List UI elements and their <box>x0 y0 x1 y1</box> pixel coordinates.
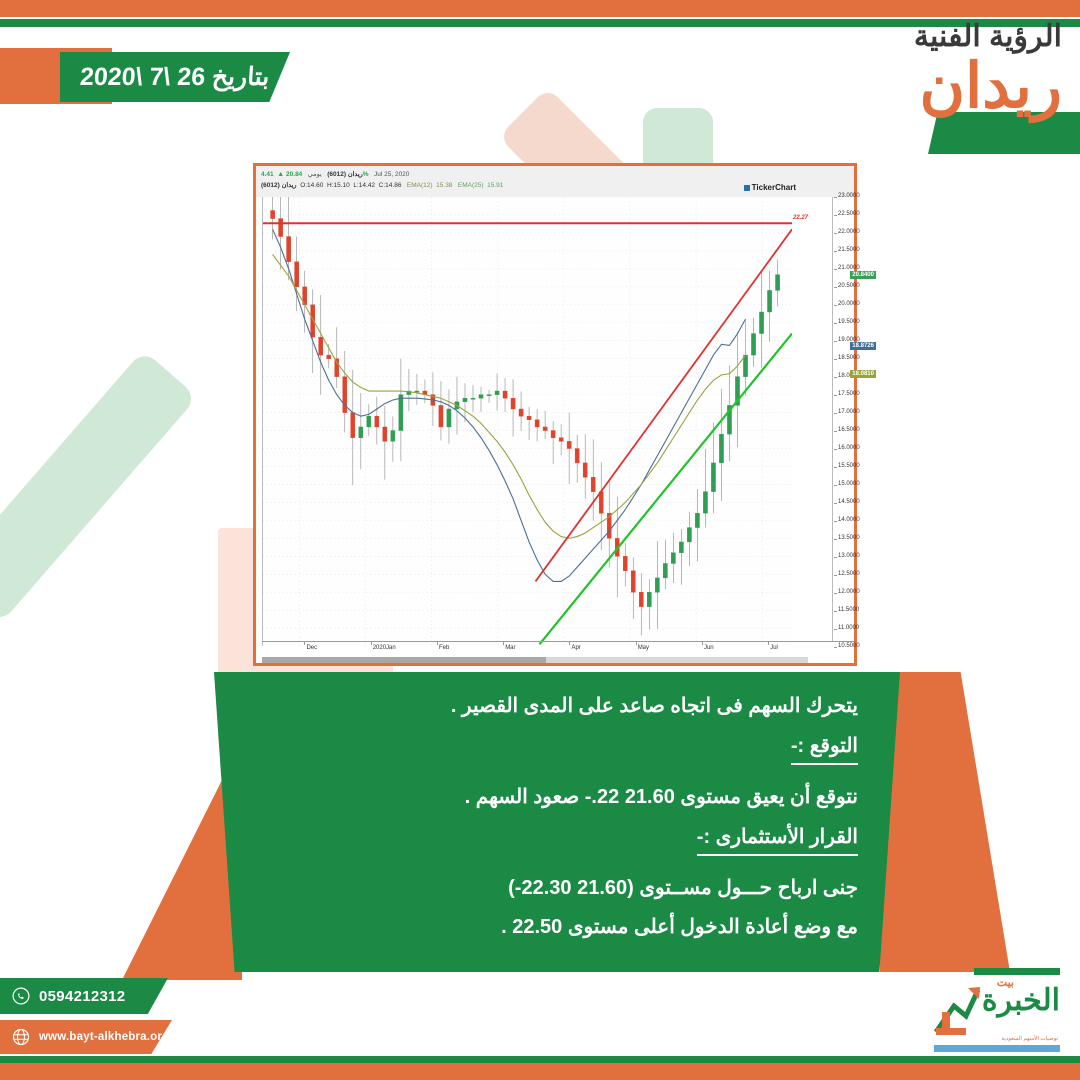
price-tag-ema-slow: 18.0810 <box>850 370 876 378</box>
chart-low: L:14.42 <box>353 182 375 189</box>
analysis-panel: يتحرك السهم فى اتجاه صاعد على المدى القص… <box>214 672 900 972</box>
x-tick-label: Dec <box>306 645 317 651</box>
candles <box>271 197 780 635</box>
price-tag-last: 20.8400 <box>850 271 876 279</box>
y-tick-label: 15.5000 <box>838 463 860 469</box>
y-tick-mark <box>834 503 837 504</box>
chart-header: ريدان (6012) يومي 20.84 ▲ 4.41% Jul 25, … <box>256 166 854 197</box>
chart-symbol: ريدان (6012) <box>327 171 363 178</box>
y-tick-mark <box>834 269 837 270</box>
y-tick-mark <box>834 305 837 306</box>
whatsapp-icon <box>12 987 30 1005</box>
analysis-line-2: نتوقع أن يعيق مستوى 21.60 22.- صعود السه… <box>256 785 858 810</box>
up-arrow-icon: ▲ <box>277 171 284 178</box>
website-url: www.bayt-alkhebra.org <box>39 1031 169 1043</box>
y-tick-label: 19.5000 <box>838 319 860 325</box>
x-tick-mark <box>636 642 637 645</box>
panel-accent-right <box>880 672 1010 972</box>
chart-date: Jul 25, 2020 <box>374 171 409 178</box>
y-tick-label: 13.0000 <box>838 553 860 559</box>
analysis-heading-2: القرار الأستثمارى :- <box>697 824 858 856</box>
date-badge: بتاريخ 26 \7 \2020 <box>60 52 290 102</box>
x-tick-label: Mar <box>505 645 515 651</box>
x-tick-mark <box>503 642 504 645</box>
tickerchart-label: TickerChart <box>752 183 796 192</box>
y-tick-label: 11.0000 <box>838 625 859 631</box>
y-tick-mark <box>834 395 837 396</box>
chart-scrollbar-thumb[interactable] <box>262 657 546 663</box>
chart-high: H:15.10 <box>327 182 350 189</box>
top-orange-bar <box>0 0 1080 17</box>
y-tick-label: 22.0000 <box>838 229 860 235</box>
y-tick-mark <box>834 593 837 594</box>
y-tick-mark <box>834 449 837 450</box>
chart-close: C:14.86 <box>379 182 402 189</box>
y-tick-label: 12.0000 <box>838 589 860 595</box>
title-subtitle: الرؤية الفنية <box>914 22 1062 52</box>
chart-symbol-2: ريدان (6012) <box>261 182 297 189</box>
chart-ema12-label: EMA(12) <box>407 182 433 189</box>
logo-word-main: الخبرة <box>982 986 1060 1016</box>
whatsapp-contact[interactable]: 0594212312 <box>0 978 168 1014</box>
y-tick-label: 21.5000 <box>838 247 860 253</box>
x-tick-label: 2020Jan <box>373 645 396 651</box>
tickerchart-icon <box>744 185 750 191</box>
bottom-orange-bar <box>0 1063 1080 1080</box>
y-tick-label: 17.0000 <box>838 409 860 415</box>
website-contact[interactable]: www.bayt-alkhebra.org <box>0 1020 172 1054</box>
y-tick-label: 13.5000 <box>838 535 860 541</box>
y-tick-label: 15.0000 <box>838 481 860 487</box>
x-tick-mark <box>768 642 769 645</box>
grid <box>263 197 792 646</box>
y-tick-label: 12.5000 <box>838 571 860 577</box>
y-tick-label: 17.5000 <box>838 391 860 397</box>
y-tick-label: 20.5000 <box>838 283 860 289</box>
candlestick-plot <box>262 197 792 646</box>
analysis-heading-2-row: القرار الأستثمارى :- <box>256 824 858 868</box>
x-tick-mark <box>569 642 570 645</box>
poster-title: الرؤية الفنية ريدان <box>914 22 1062 119</box>
title-main: ريدان <box>914 54 1062 119</box>
y-tick-label: 23.0000 <box>838 193 860 199</box>
y-tick-mark <box>834 287 837 288</box>
whatsapp-number: 0594212312 <box>39 988 125 1005</box>
x-tick-label: May <box>638 645 649 651</box>
poster-root: بتاريخ 26 \7 \2020 الرؤية الفنية ريدان ر… <box>0 0 1080 1080</box>
watermark-diagonal-green <box>0 350 198 624</box>
analysis-heading-1: التوقع :- <box>791 733 858 765</box>
y-tick-mark <box>834 413 837 414</box>
chart-card: ريدان (6012) يومي 20.84 ▲ 4.41% Jul 25, … <box>253 163 857 666</box>
y-tick-mark <box>834 485 837 486</box>
date-badge-label: بتاريخ 26 \7 \2020 <box>79 62 270 92</box>
analysis-line-4: مع وضع أعادة الدخول أعلى مستوى 22.50 . <box>256 915 858 940</box>
bottom-green-bar <box>0 1056 1080 1063</box>
chart-period: يومي <box>308 171 322 178</box>
chart-plot-area: 23.000022.500022.000021.500021.000020.50… <box>256 197 854 663</box>
y-tick-mark <box>834 215 837 216</box>
y-tick-mark <box>834 233 837 234</box>
chart-ema25-label: EMA(25) <box>458 182 484 189</box>
growth-arrow-icon <box>932 982 984 1038</box>
y-tick-mark <box>834 341 837 342</box>
lower-trendline <box>539 334 792 645</box>
globe-icon <box>12 1028 30 1046</box>
x-tick-label: Jul <box>770 645 778 651</box>
x-tick-mark <box>437 642 438 645</box>
analysis-line-1: يتحرك السهم فى اتجاه صاعد على المدى القص… <box>256 694 858 719</box>
y-tick-label: 16.0000 <box>838 445 860 451</box>
x-tick-label: Jun <box>704 645 714 651</box>
y-tick-mark <box>834 431 837 432</box>
y-tick-mark <box>834 323 837 324</box>
logo-bar-top <box>974 968 1060 975</box>
y-tick-mark <box>834 197 837 198</box>
x-axis: Dec2020JanFebMarAprMayJunJul <box>262 641 854 657</box>
x-tick-mark <box>371 642 372 645</box>
logo-bar-bottom <box>934 1045 1060 1052</box>
y-tick-label: 11.5000 <box>838 607 859 613</box>
y-tick-mark <box>834 251 837 252</box>
x-tick-mark <box>702 642 703 645</box>
y-tick-mark <box>834 467 837 468</box>
x-tick-label: Feb <box>439 645 449 651</box>
x-tick-mark <box>304 642 305 645</box>
logo-tagline: توصيات الأسهم السعودية <box>1001 1036 1058 1042</box>
upper-trendline <box>535 229 792 581</box>
y-tick-mark <box>834 575 837 576</box>
y-axis: 23.000022.500022.000021.500021.000020.50… <box>834 197 878 641</box>
y-tick-mark <box>834 539 837 540</box>
brand-logo: بيت الخبرة توصيات الأسهم السعودية <box>932 972 1062 1050</box>
y-axis-line <box>832 197 833 641</box>
tickerchart-logo: TickerChart <box>744 183 796 192</box>
y-tick-mark <box>834 629 837 630</box>
y-tick-mark <box>834 557 837 558</box>
analysis-line-3: جنى ارباح حـــول مســتوى (21.60 22.30-) <box>256 876 858 901</box>
y-tick-label: 14.5000 <box>838 499 860 505</box>
y-tick-label: 20.0000 <box>838 301 860 307</box>
price-tag-ema-fast: 18.8726 <box>850 342 876 350</box>
y-tick-label: 16.5000 <box>838 427 860 433</box>
chart-quote-line: ريدان (6012) يومي 20.84 ▲ 4.41% Jul 25, … <box>261 169 849 180</box>
chart-ema25-value: 15.91 <box>487 182 503 189</box>
y-tick-label: 18.5000 <box>838 355 860 361</box>
y-tick-mark <box>834 359 837 360</box>
chart-scrollbar[interactable] <box>262 657 808 663</box>
chart-ema12-value: 15.38 <box>436 182 452 189</box>
y-tick-mark <box>834 611 837 612</box>
chart-open: O:14.60 <box>300 182 323 189</box>
y-tick-mark <box>834 377 837 378</box>
x-tick-label: Apr <box>571 645 580 651</box>
chart-last-price: 20.84 <box>286 171 302 178</box>
resistance-label: 22.27 <box>793 215 808 221</box>
y-tick-label: 14.0000 <box>838 517 860 523</box>
y-tick-mark <box>834 521 837 522</box>
analysis-heading-1-row: التوقع :- <box>256 733 858 777</box>
y-tick-label: 22.5000 <box>838 211 860 217</box>
